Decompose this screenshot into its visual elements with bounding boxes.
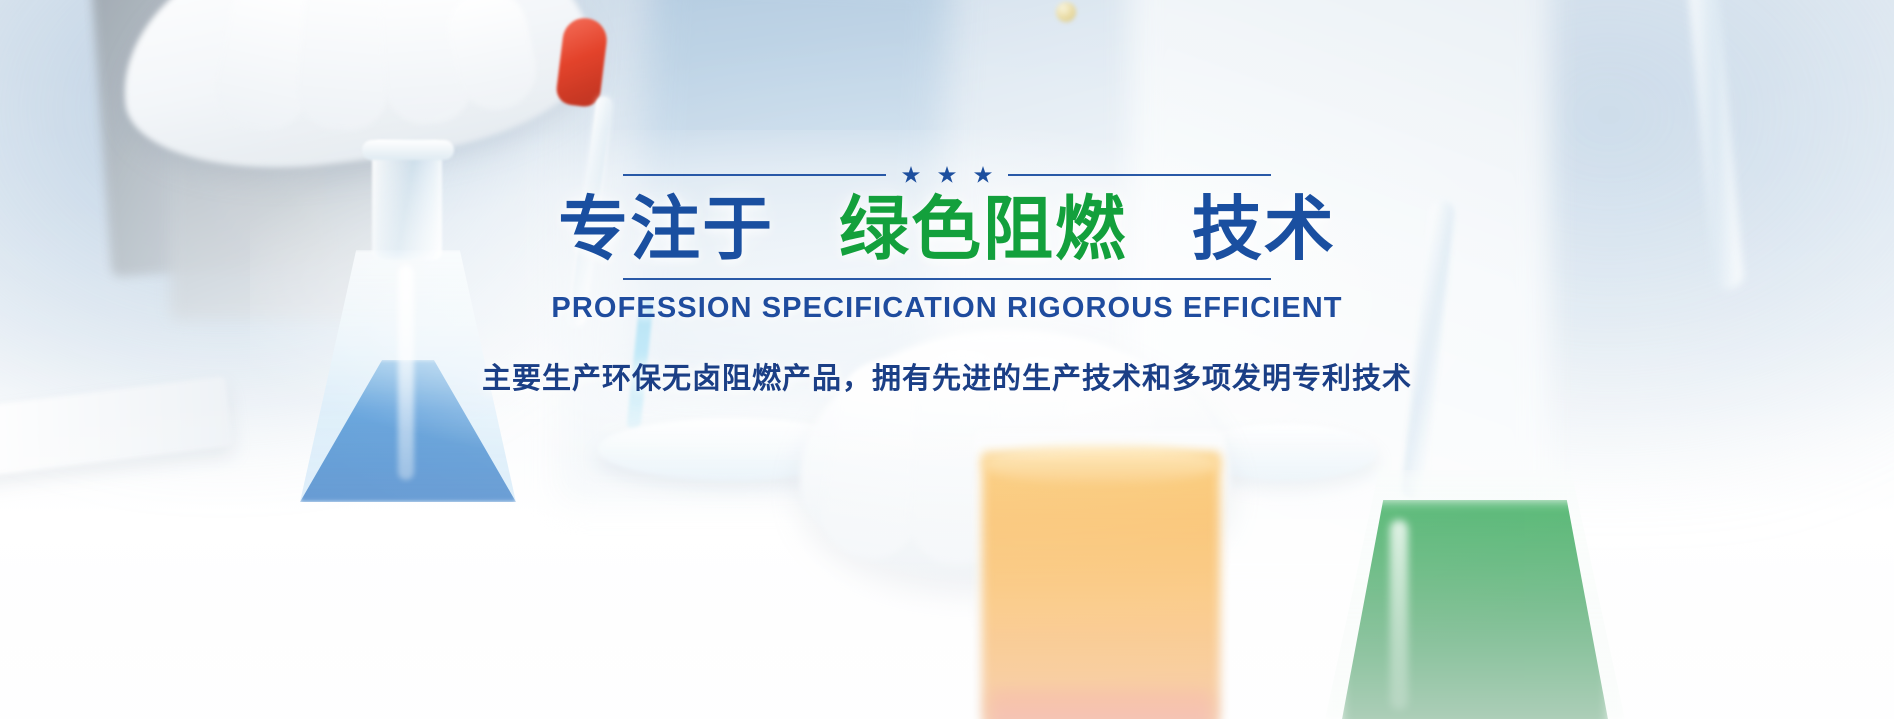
star-icon bbox=[974, 166, 992, 184]
flask-lip bbox=[362, 140, 454, 160]
star-icon bbox=[902, 166, 920, 184]
divider-rule-left bbox=[623, 174, 886, 176]
hero-banner: 专注于 绿色阻燃 技术 PROFESSION SPECIFICATION RIG… bbox=[0, 0, 1894, 719]
coat-button bbox=[1056, 2, 1076, 22]
divider-rule-bottom bbox=[623, 278, 1271, 280]
banner-content: 专注于 绿色阻燃 技术 PROFESSION SPECIFICATION RIG… bbox=[0, 168, 1894, 397]
banner-description: 主要生产环保无卤阻燃产品，拥有先进的生产技术和多项发明专利技术 bbox=[482, 355, 1412, 397]
star-group bbox=[902, 166, 992, 184]
banner-headline: 专注于 绿色阻燃 技术 bbox=[558, 192, 1336, 268]
divider-rule-right bbox=[1008, 174, 1271, 176]
headline-part-1: 专注于 bbox=[558, 190, 774, 268]
banner-subtitle: PROFESSION SPECIFICATION RIGOROUS EFFICI… bbox=[551, 292, 1342, 325]
headline-part-2: 绿色阻燃 bbox=[839, 190, 1127, 268]
green-flask-highlight bbox=[1390, 520, 1408, 710]
green-flask-liquid bbox=[1340, 500, 1610, 719]
star-icon bbox=[938, 166, 956, 184]
orange-beaker-liquid bbox=[982, 452, 1220, 719]
orange-beaker-surface bbox=[982, 446, 1220, 482]
orange-beaker-base-shadow bbox=[990, 690, 1212, 719]
star-divider bbox=[623, 168, 1271, 182]
headline-part-3: 技术 bbox=[1192, 190, 1336, 268]
